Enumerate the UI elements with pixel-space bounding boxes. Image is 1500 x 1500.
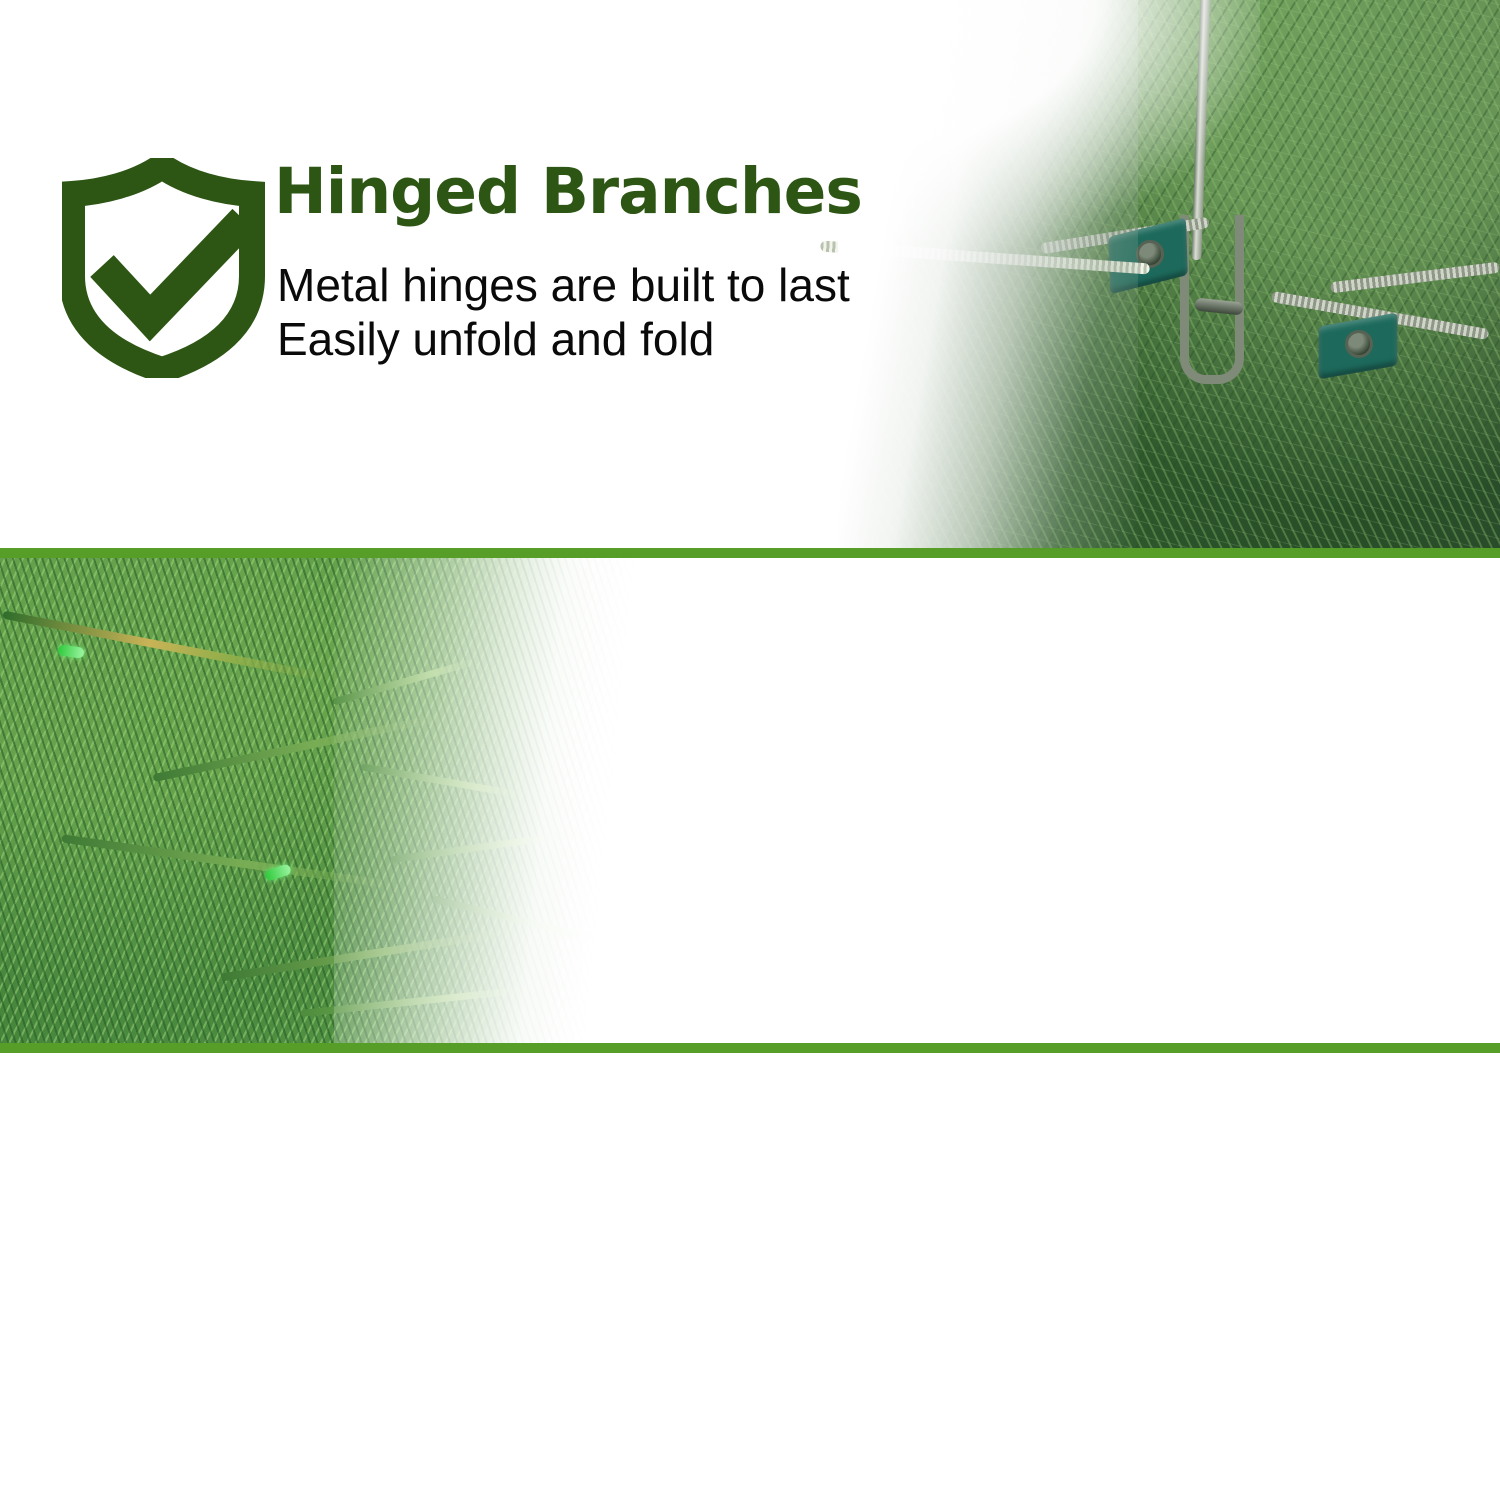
section-hinged-branches: Hinged Branches Metal hinges are built t…	[0, 0, 1500, 548]
body-line: Easily unfold and fold	[277, 312, 850, 366]
section-body-hinged-branches: Metal hinges are built to last Easily un…	[277, 258, 850, 367]
section-divider	[0, 1043, 1500, 1053]
section-title-hinged-branches: Hinged Branches	[274, 160, 862, 223]
body-line: Metal hinges are built to last	[277, 258, 850, 312]
product-feature-infographic: Hinged Branches Metal hinges are built t…	[0, 0, 1500, 1500]
section-divider	[0, 548, 1500, 558]
photo-highlight-overlay	[840, 0, 1260, 250]
hinge-bolt	[1345, 330, 1373, 358]
section-sturdy-metal-base: Sturdy Metal Base Metal stand can suppor…	[0, 1053, 1500, 1500]
shield-check-icon	[62, 158, 280, 378]
tree-branch-photo	[0, 558, 660, 1043]
hinged-branch-photo	[840, 0, 1500, 548]
section-environmental-safe-material: Environmental Safe Material Non-flammabl…	[0, 558, 1500, 1043]
photo-fade-overlay	[334, 558, 664, 1043]
